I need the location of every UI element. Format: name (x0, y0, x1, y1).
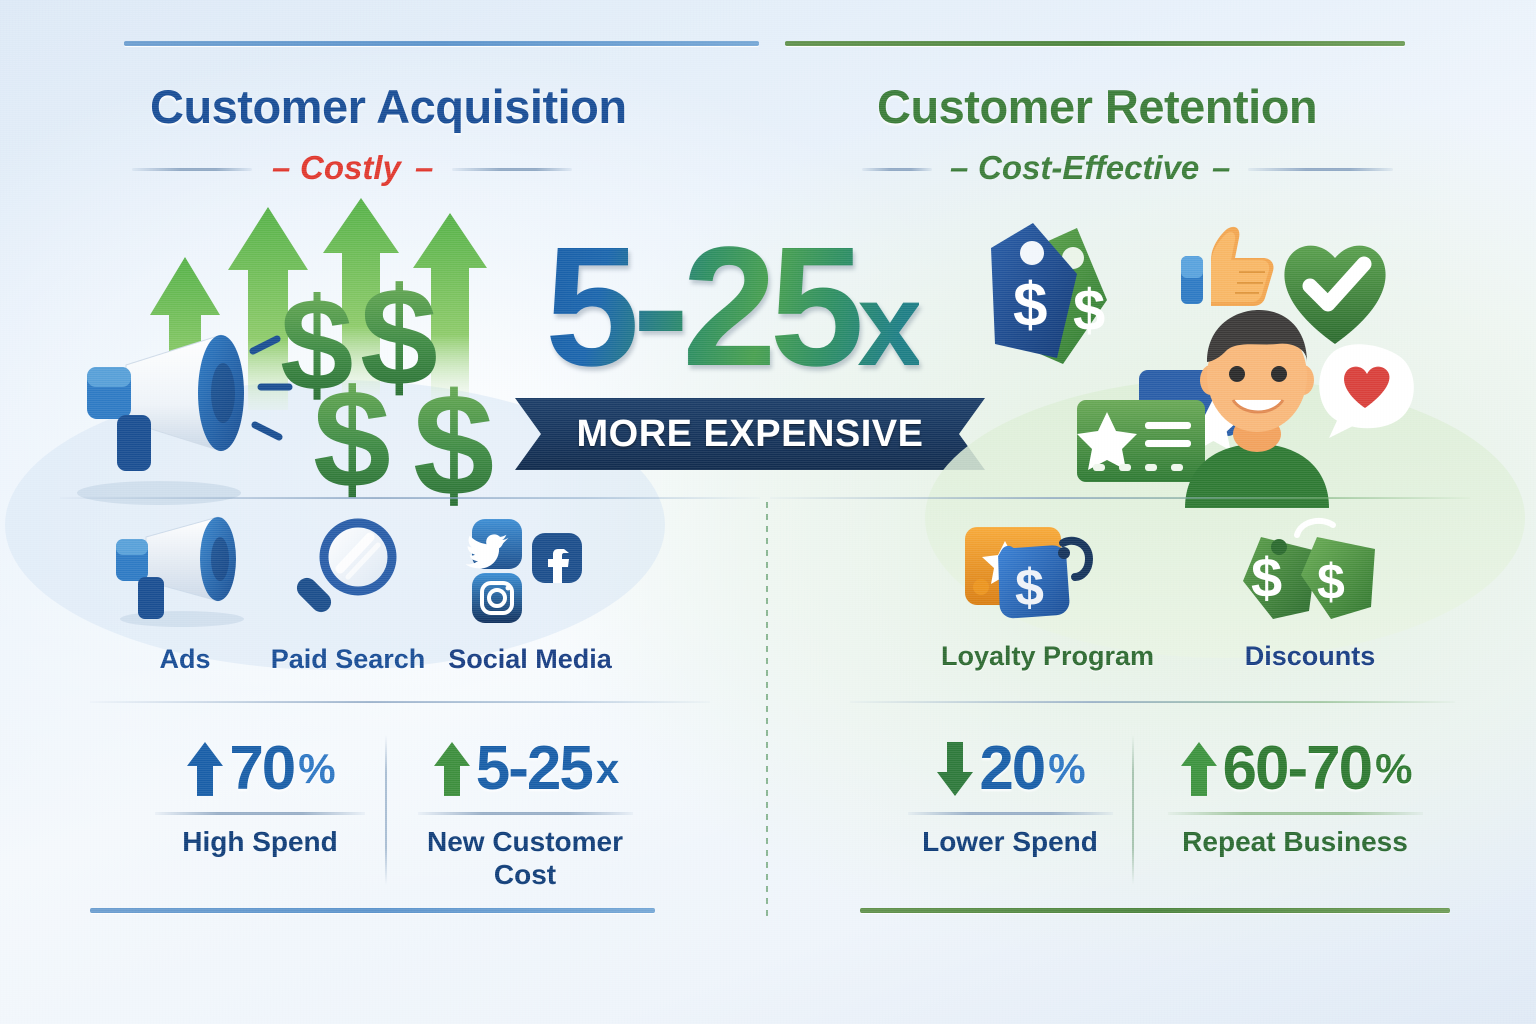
stats-separator-left (90, 701, 710, 703)
stats-separator-right (850, 701, 1455, 703)
arrow-down-icon (935, 740, 975, 798)
hero-multiplier-suffix: x (857, 259, 919, 391)
icon-cell-social-media[interactable]: Social Media (430, 515, 630, 675)
stat-value: 5-25 (476, 738, 592, 800)
twitter-icon (465, 519, 522, 569)
left-subtitle-dash-right (452, 168, 572, 171)
stat-caption: High Spend (140, 825, 380, 858)
hero-left-illustration: $ $ $ $ (75, 195, 555, 505)
right-subtitle-dash-right (1248, 168, 1393, 171)
right-panel-title: Customer Retention (877, 79, 1317, 134)
facebook-icon (532, 533, 582, 583)
discount-tags-icon: $ $ (1225, 515, 1395, 635)
stat-caption: Lower Spend (895, 825, 1125, 858)
stat-new-customer-cost: 5-25 x New Customer Cost (400, 738, 650, 891)
loyalty-card-tag-icon: $ (953, 515, 1143, 635)
arrow-up-icon (185, 740, 225, 798)
dollar-sign-icon: $ (413, 363, 494, 526)
more-expensive-banner-label: MORE EXPENSIVE (577, 413, 924, 456)
stat-high-spend: 70 % High Spend (140, 738, 380, 858)
dollar-sign-icon: $ (313, 360, 391, 517)
hero-multiplier: 5-25x (545, 222, 919, 392)
stat-unit: % (298, 748, 334, 790)
bottom-rule-right (860, 908, 1450, 913)
stat-caption: New Customer Cost (420, 825, 630, 891)
right-subtitle-dash-glyph-start: – (950, 149, 968, 187)
more-expensive-banner: MORE EXPENSIVE (515, 398, 985, 470)
stat-lower-spend: 20 % Lower Spend (895, 738, 1125, 858)
stat-unit: % (1375, 748, 1411, 790)
left-panel-subtitle: Costly (300, 149, 401, 187)
infographic-canvas: Customer Acquisition Customer Retention … (0, 0, 1536, 1024)
left-panel-title: Customer Acquisition (150, 79, 627, 134)
magnifier-icon (288, 515, 408, 630)
panel-divider (766, 502, 768, 917)
mid-separator-left (60, 497, 760, 499)
arrow-up-icon (432, 740, 472, 798)
icon-label-loyalty-program: Loyalty Program (935, 641, 1160, 672)
svg-text:$: $ (1317, 554, 1345, 610)
svg-text:$: $ (1015, 559, 1044, 617)
instagram-icon (472, 573, 522, 623)
thumbs-up-icon (1181, 227, 1274, 306)
arrow-up-icon (1179, 740, 1219, 798)
svg-text:$: $ (1251, 546, 1282, 609)
mid-separator-right (770, 497, 1470, 499)
left-subtitle-dash-glyph-start: – (272, 149, 290, 187)
icon-label-discounts: Discounts (1215, 641, 1405, 672)
left-subtitle-dash-left (132, 168, 252, 171)
svg-text:$: $ (413, 363, 494, 526)
top-rule-left (124, 41, 759, 46)
right-panel-subtitle: Cost-Effective (978, 149, 1199, 187)
svg-text:$: $ (1013, 271, 1047, 340)
hero-multiplier-value: 5-25 (545, 212, 857, 402)
svg-text:$: $ (313, 360, 391, 517)
loyalty-card-icon (1077, 400, 1205, 482)
stat-value: 20 (979, 738, 1044, 800)
stat-unit: x (596, 748, 618, 790)
stat-caption: Repeat Business (1150, 825, 1440, 858)
icon-cell-loyalty-program[interactable]: $ Loyalty Program (935, 515, 1160, 672)
left-subtitle-dash-glyph-end: – (415, 149, 433, 187)
right-subtitle-dash-glyph-end: – (1212, 149, 1230, 187)
hero-right-illustration: $ $ (985, 218, 1445, 508)
stat-unit: % (1048, 748, 1084, 790)
heart-check-icon (1284, 246, 1385, 344)
dollar-sign-icon: $ (1073, 278, 1105, 343)
stat-divider-left (385, 735, 387, 885)
stat-underline (155, 812, 365, 815)
bottom-rule-left (90, 908, 655, 913)
megaphone-icon (110, 515, 260, 630)
stat-divider-right (1132, 735, 1134, 885)
icon-cell-paid-search[interactable]: Paid Search (262, 515, 434, 675)
icon-cell-discounts[interactable]: $ $ Discounts (1215, 515, 1405, 672)
stat-underline (1168, 812, 1423, 815)
social-apps-icon (460, 515, 600, 630)
right-subtitle-dash-left (862, 168, 932, 171)
stat-repeat-business: 60-70 % Repeat Business (1150, 738, 1440, 858)
stat-value: 60-70 (1223, 738, 1372, 800)
top-rule-right (785, 41, 1405, 46)
icon-label-ads: Ads (100, 644, 270, 675)
icon-cell-ads[interactable]: Ads (100, 515, 270, 675)
icon-label-social-media: Social Media (430, 644, 630, 675)
stat-value: 70 (229, 738, 294, 800)
icon-label-paid-search: Paid Search (262, 644, 434, 675)
stat-underline (908, 812, 1113, 815)
stat-underline (418, 812, 633, 815)
